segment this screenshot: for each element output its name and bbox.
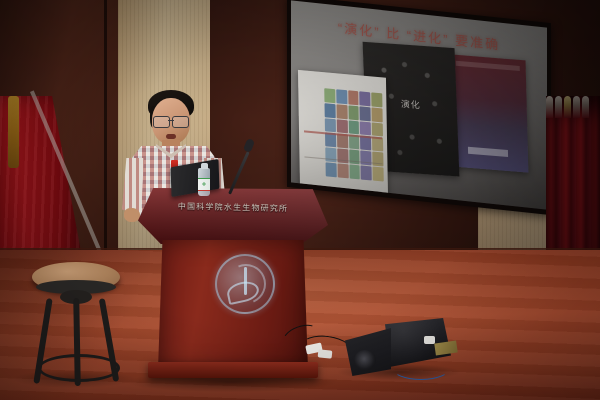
flag-tip-3 bbox=[564, 96, 571, 118]
book-grid-cell-5 bbox=[371, 92, 382, 107]
eyeglasses-icon bbox=[152, 116, 190, 127]
book-grid-cell-12 bbox=[337, 119, 348, 134]
book-grid-cell-11 bbox=[325, 118, 336, 133]
speaker-mouth bbox=[166, 134, 176, 139]
water-bottle-label bbox=[198, 178, 210, 191]
book-grid-cell-2 bbox=[336, 89, 347, 104]
flag-tip-5 bbox=[582, 96, 589, 118]
book-grid-cell-27 bbox=[337, 164, 348, 179]
flag-gold-tassel bbox=[8, 96, 19, 168]
book-grid-cell-9 bbox=[360, 106, 371, 121]
stool-seat bbox=[32, 262, 120, 292]
lecture-hall-scene: “演化” 比 “进化” 要准确 演化 bbox=[0, 0, 600, 400]
monitor-driver-cone bbox=[354, 350, 376, 370]
projection-screen: “演化” 比 “进化” 要准确 演化 bbox=[287, 0, 551, 215]
book-grid-cell-3 bbox=[348, 90, 359, 105]
flag-tip-2 bbox=[555, 96, 562, 118]
podium-base bbox=[148, 362, 318, 378]
book-grid-cell-29 bbox=[361, 166, 372, 181]
institute-emblem-icon bbox=[215, 254, 275, 314]
bar-stool bbox=[26, 262, 126, 384]
flag-tip-1 bbox=[546, 96, 553, 118]
book-grid-cell-8 bbox=[348, 105, 359, 120]
water-bottle-cap bbox=[201, 163, 208, 169]
book-middle-title: 演化 bbox=[401, 97, 421, 111]
book-grid-cell-7 bbox=[336, 104, 347, 119]
cable-adapter-3 bbox=[424, 336, 435, 344]
book-right-bottom-strip bbox=[468, 147, 508, 157]
book-grid-cell-4 bbox=[360, 91, 371, 106]
lens-right bbox=[172, 116, 189, 128]
book-grid-cell-6 bbox=[324, 103, 335, 118]
book-grid-cell-13 bbox=[348, 120, 359, 135]
stool-footrest-ring bbox=[38, 354, 120, 382]
book-right-top-band bbox=[456, 61, 520, 71]
podium-top-surface bbox=[138, 188, 328, 244]
cable-adapter-2 bbox=[318, 349, 333, 358]
emblem-arc bbox=[220, 258, 272, 310]
flag-tip-4 bbox=[573, 96, 580, 118]
book-grid-cell-10 bbox=[372, 107, 383, 122]
book-cover-right bbox=[450, 54, 529, 172]
cable-blue bbox=[392, 356, 450, 380]
book-grid-cell-26 bbox=[326, 162, 337, 177]
flag-pole-tips bbox=[543, 96, 600, 122]
book-cover-left bbox=[298, 70, 388, 198]
book-grid-cell-30 bbox=[373, 167, 384, 182]
slide-book-covers: 演化 bbox=[299, 33, 539, 203]
book-grid-cell-14 bbox=[360, 121, 371, 136]
lens-left bbox=[153, 116, 170, 128]
projection-screen-surface: “演化” 比 “进化” 要准确 演化 bbox=[291, 0, 547, 209]
book-grid-cell-15 bbox=[372, 122, 383, 137]
book-grid-cell-28 bbox=[349, 165, 360, 180]
book-grid-cell-1 bbox=[324, 88, 335, 103]
podium: 中国科学院水生生物研究所 bbox=[138, 188, 328, 388]
